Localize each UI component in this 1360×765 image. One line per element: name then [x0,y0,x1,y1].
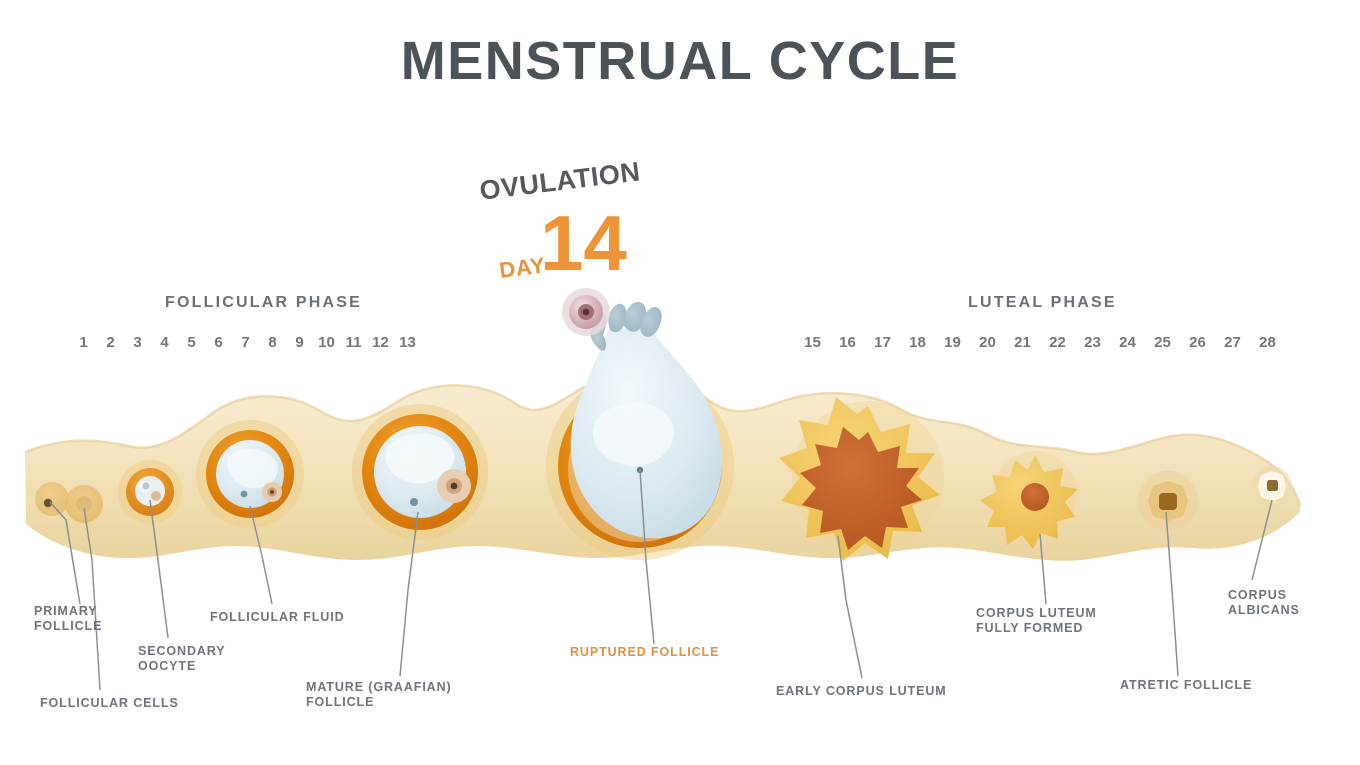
atretic-core [1159,493,1177,510]
atretic-follicle-group [1138,471,1198,531]
annotation-follicular-fluid: FOLLICULAR FLUID [210,610,345,625]
annotation-early-corpus-luteum: EARLY CORPUS LUTEUM [776,684,947,699]
secondary-oocyte-nucleus [142,482,149,489]
antral-follicle-group [196,420,304,528]
secondary-oocyte-body [151,491,161,501]
annotation-follicular-cells: FOLLICULAR CELLS [40,696,179,711]
annotation-mature-graafian-follicle: MATURE (GRAAFIAN) FOLLICLE [306,680,452,710]
ovum-nucleolus [583,309,590,316]
ruptured-follicle-group [546,288,734,560]
mature-graafian-follicle-group [352,404,488,540]
antral-oocyte-mark [241,491,248,498]
primordial-follicle-a [35,482,69,516]
graafian-inner-mark [410,498,418,506]
annotation-ruptured-follicle: RUPTURED FOLLICLE [570,645,719,660]
annotation-primary-follicle: PRIMARY FOLLICLE [34,604,102,634]
antral-oocyte-nucleus [270,490,274,494]
cl-full-core [1021,483,1049,511]
diagram-canvas: MENSTRUAL CYCLE OVULATION DAY 14 FOLLICU… [0,0,1360,765]
albicans-core [1267,480,1278,491]
graafian-oocyte-nucleus [451,483,458,490]
annotation-secondary-oocyte: SECONDARY OOCYTE [138,644,226,674]
annotation-corpus-luteum-fully-formed: CORPUS LUTEUM FULLY FORMED [976,606,1097,636]
annotation-atretic-follicle: ATRETIC FOLLICLE [1120,678,1252,693]
annotation-corpus-albicans: CORPUS ALBICANS [1228,588,1300,618]
secondary-follicle-group [118,460,182,524]
ovum-group [562,288,610,336]
